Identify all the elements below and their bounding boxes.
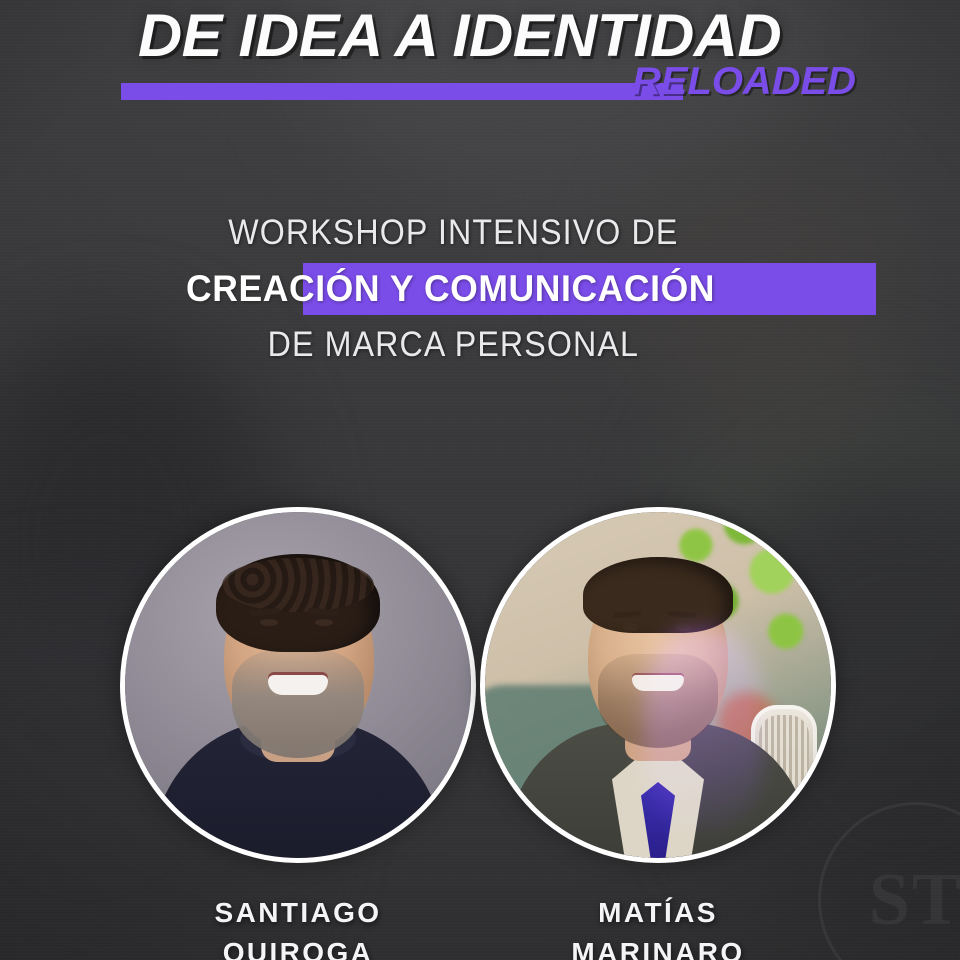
subtitle-highlight-row: CREACIÓN Y COMUNICACIÓN xyxy=(0,263,960,315)
speaker-first-name: MATÍAS xyxy=(480,893,836,933)
avatar xyxy=(480,507,836,863)
subtitle-line-3: DE MARCA PERSONAL xyxy=(38,324,921,366)
title-accent-bar xyxy=(121,83,683,100)
speaker-first-name: SANTIAGO xyxy=(120,893,476,933)
subtitle-block: WORKSHOP INTENSIVO DE CREACIÓN Y COMUNIC… xyxy=(0,212,960,366)
speaker-name-matias-marinaro: MATÍAS MARINARO xyxy=(480,893,836,960)
speaker-card-santiago-quiroga: SANTIAGO QUIROGA xyxy=(120,507,476,960)
avatar xyxy=(120,507,476,863)
subtitle-line-1: WORKSHOP INTENSIVO DE xyxy=(38,212,921,254)
title-block: DE IDEA A IDENTIDAD RELOADED xyxy=(0,0,960,120)
speaker-last-name: MARINARO xyxy=(480,933,836,960)
title-subtitle-reloaded: RELOADED xyxy=(632,60,856,104)
subtitle-highlight-text: CREACIÓN Y COMUNICACIÓN xyxy=(187,263,716,315)
speaker-card-matias-marinaro: MATÍAS MARINARO xyxy=(480,507,836,960)
speaker-last-name: QUIROGA xyxy=(120,933,476,960)
speaker-name-santiago-quiroga: SANTIAGO QUIROGA xyxy=(120,893,476,960)
poster-canvas: ST DE IDEA A IDENTIDAD RELOADED WORKSHOP… xyxy=(0,0,960,960)
portrait-santiago-quiroga xyxy=(125,512,471,858)
portrait-matias-marinaro xyxy=(485,512,831,858)
